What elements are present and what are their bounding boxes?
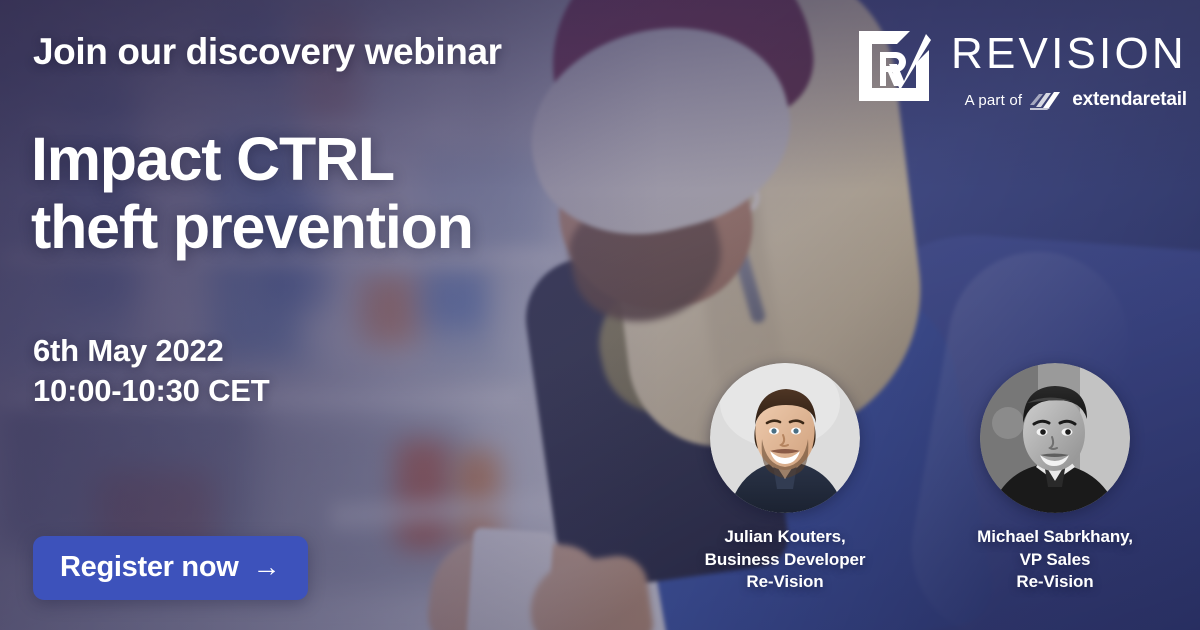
speaker-photo-michael — [980, 363, 1130, 513]
schedule-block: 6th May 2022 10:00-10:30 CET — [33, 331, 270, 412]
speaker-card: Michael Sabrkhany, VP Sales Re-Vision — [920, 363, 1190, 594]
rv-monogram-icon — [856, 28, 932, 104]
speaker-company: Re-Vision — [705, 571, 866, 594]
speakers-list: Julian Kouters, Business Developer Re-Vi… — [650, 363, 1190, 594]
a-part-of-label: A part of — [965, 92, 1023, 109]
speaker-caption: Julian Kouters, Business Developer Re-Vi… — [705, 526, 866, 594]
revision-logo[interactable]: REVISION A part of extendaretail — [856, 28, 1187, 111]
webinar-time: 10:00-10:30 CET — [33, 371, 270, 411]
extendaretail-name: extendaretail — [1072, 89, 1187, 111]
speaker-name: Michael Sabrkhany, — [977, 526, 1133, 549]
title-line-1: Impact CTRL — [31, 126, 473, 194]
speaker-caption: Michael Sabrkhany, VP Sales Re-Vision — [977, 526, 1133, 594]
speaker-card: Julian Kouters, Business Developer Re-Vi… — [650, 363, 920, 594]
page-title: Impact CTRL theft prevention — [31, 126, 473, 261]
speaker-name: Julian Kouters, — [705, 526, 866, 549]
extendaretail-chevron-icon — [1030, 91, 1064, 110]
speaker-role: VP Sales — [977, 549, 1133, 572]
speaker-photo-julian — [710, 363, 860, 513]
arrow-right-icon: → — [253, 553, 281, 581]
register-now-button[interactable]: Register now → — [33, 536, 308, 600]
speaker-role: Business Developer — [705, 549, 866, 572]
title-line-2: theft prevention — [31, 194, 473, 262]
revision-wordmark: REVISION — [951, 32, 1187, 76]
partner-attribution: A part of extendaretail — [965, 89, 1187, 111]
webinar-date: 6th May 2022 — [33, 331, 270, 371]
register-now-label: Register now — [60, 551, 239, 584]
eyebrow-text: Join our discovery webinar — [33, 31, 502, 73]
webinar-promo-banner: Join our discovery webinar Impact CTRL t… — [0, 0, 1200, 630]
speaker-company: Re-Vision — [977, 571, 1133, 594]
